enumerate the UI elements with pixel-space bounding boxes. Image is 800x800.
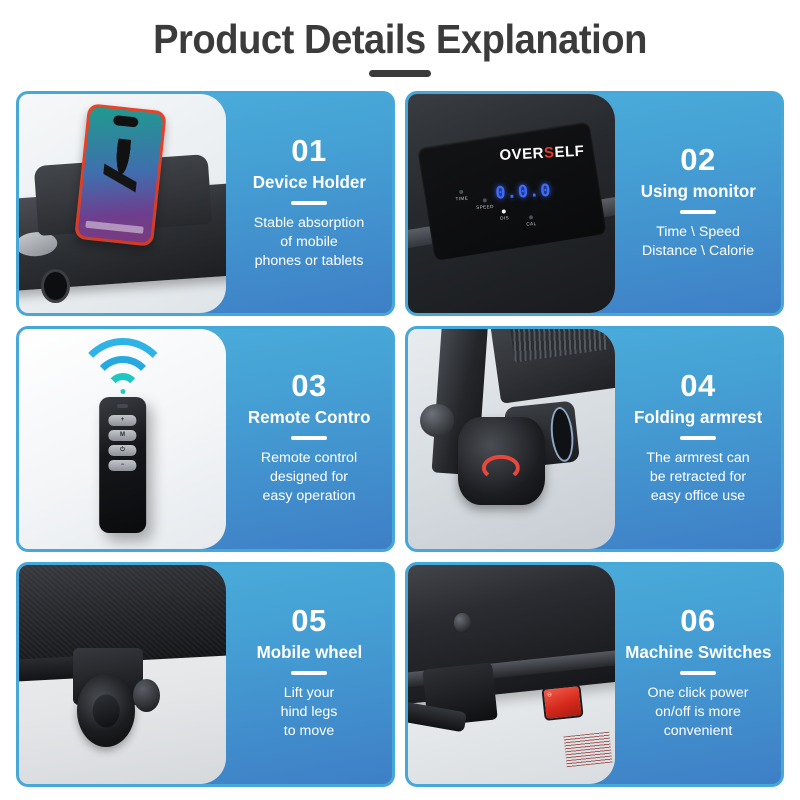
- runner-silhouette-icon: [99, 137, 140, 218]
- metric-label-speed: SPEED: [475, 204, 493, 210]
- monitor-photo: OVERSELF 0.0.0 TIME SPEED DIS CAL: [408, 94, 615, 313]
- remote-control-photo: + M ⏻ −: [19, 329, 226, 548]
- card-02-info: 02 Using monitor Time \ Speed Distance \…: [615, 94, 781, 313]
- spec-label-sticker: [564, 731, 612, 766]
- card-01-info: 01 Device Holder Stable absorption of mo…: [226, 94, 392, 313]
- card-number: 06: [680, 605, 715, 636]
- wheel-axle-icon: [133, 679, 160, 712]
- phone-notch-icon: [113, 116, 139, 128]
- feature-card-01[interactable]: 01 Device Holder Stable absorption of mo…: [16, 91, 395, 316]
- card-number: 04: [680, 370, 715, 401]
- brand-logo: OVERSELF: [499, 142, 585, 163]
- remote-button-plus: +: [109, 415, 137, 426]
- card-divider: [291, 671, 327, 675]
- card-number: 01: [291, 135, 326, 166]
- feature-card-04[interactable]: 04 Folding armrest The armrest can be re…: [405, 326, 784, 551]
- infographic-page: Product Details Explanation 01 Dev: [0, 0, 800, 800]
- lcd-readout: 0.0.0: [494, 181, 551, 204]
- card-06-info: 06 Machine Switches One click power on/o…: [615, 565, 781, 784]
- caster-wheel: [77, 674, 135, 746]
- card-heading: Device Holder: [252, 172, 365, 192]
- console-port-icon: [44, 272, 67, 301]
- armrest-bolt-icon: [420, 404, 453, 437]
- machine-switch-photo: [408, 565, 615, 784]
- card-divider: [291, 201, 327, 205]
- card-body: The armrest can be retracted for easy of…: [646, 449, 749, 506]
- card-body: Lift your hind legs to move: [281, 684, 338, 741]
- card-heading: Mobile wheel: [256, 642, 362, 662]
- feature-card-06[interactable]: 06 Machine Switches One click power on/o…: [405, 562, 784, 787]
- metric-label-time: TIME: [454, 195, 467, 201]
- brand-prefix: OVER: [499, 144, 544, 163]
- title-underline: [369, 70, 431, 77]
- mobile-wheel-photo: [19, 565, 226, 784]
- remote-body: + M ⏻ −: [99, 397, 147, 533]
- card-divider: [680, 436, 716, 440]
- remote-led-icon: [117, 404, 127, 407]
- signal-source-dot-icon: [120, 389, 125, 394]
- rotation-arrows-icon: [482, 455, 520, 481]
- locking-knob: [458, 417, 545, 505]
- page-title: Product Details Explanation: [43, 18, 757, 61]
- remote-button-minus: −: [109, 460, 137, 471]
- card-divider: [680, 210, 716, 214]
- feature-card-grid: 01 Device Holder Stable absorption of mo…: [16, 91, 784, 787]
- metric-label-cal: CAL: [525, 221, 535, 227]
- remote-button-power: ⏻: [109, 445, 137, 456]
- card-heading: Using monitor: [640, 181, 755, 201]
- card-body: Time \ Speed Distance \ Calorie: [642, 223, 754, 261]
- card-number: 02: [680, 144, 715, 175]
- card-body: One click power on/off is more convenien…: [648, 684, 749, 741]
- card-body: Stable absorption of mobile phones or ta…: [254, 214, 364, 271]
- remote-button-mode: M: [109, 430, 137, 441]
- feature-card-03[interactable]: + M ⏻ − 03 Remote Contro Remote control …: [16, 326, 395, 551]
- card-number: 05: [291, 605, 326, 636]
- brand-suffix: ELF: [554, 142, 585, 161]
- power-rocker-switch: [543, 686, 581, 718]
- folding-armrest-photo: [408, 329, 615, 548]
- screen-caption-bar: [86, 221, 144, 234]
- card-divider: [291, 436, 327, 440]
- phone-device: [74, 103, 166, 246]
- brand-accent-letter: S: [543, 144, 554, 162]
- card-03-info: 03 Remote Contro Remote control designed…: [226, 329, 392, 548]
- header: Product Details Explanation: [16, 0, 784, 77]
- card-body: Remote control designed for easy operati…: [261, 449, 357, 506]
- metric-label-dis: DIS: [500, 215, 509, 220]
- phone-screen: [78, 107, 164, 244]
- card-divider: [680, 671, 716, 675]
- card-04-info: 04 Folding armrest The armrest can be re…: [615, 329, 781, 548]
- card-number: 03: [291, 370, 326, 401]
- card-heading: Folding armrest: [634, 407, 762, 427]
- device-holder-photo: [19, 94, 226, 313]
- card-heading: Remote Contro: [248, 407, 371, 427]
- feature-card-05[interactable]: 05 Mobile wheel Lift your hind legs to m…: [16, 562, 395, 787]
- feature-card-02[interactable]: OVERSELF 0.0.0 TIME SPEED DIS CAL 02 Usi…: [405, 91, 784, 316]
- card-05-info: 05 Mobile wheel Lift your hind legs to m…: [226, 565, 392, 784]
- card-heading: Machine Switches: [625, 642, 771, 662]
